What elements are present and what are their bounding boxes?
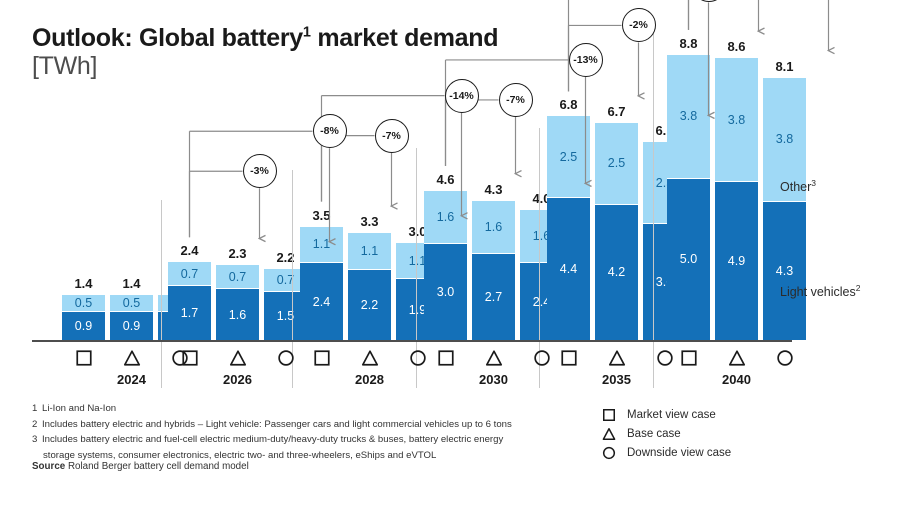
footnote-3-number: 3: [32, 432, 42, 448]
delta-callout-badge: -3%: [243, 154, 277, 188]
callout-connectors: [0, 0, 900, 400]
footnote-1-text: Li-Ion and Na-Ion: [42, 403, 116, 414]
footnote-3-text: Includes battery electric and fuel-cell …: [42, 434, 503, 445]
circle-icon: [600, 445, 618, 461]
legend: Market view caseBase caseDownside view c…: [600, 406, 731, 463]
legend-item[interactable]: Downside view case: [600, 444, 731, 462]
legend-item-label: Base case: [627, 428, 681, 440]
footnotes-block: 1Li-Ion and Na-Ion 2Includes battery ele…: [32, 401, 592, 463]
delta-callout-badge: -13%: [569, 43, 603, 77]
triangle-icon: [600, 426, 618, 442]
footnote-1-number: 1: [32, 401, 42, 417]
source-line: Source Roland Berger battery cell demand…: [32, 461, 249, 472]
source-label: Source: [32, 461, 65, 472]
footnote-2-text: Includes battery electric and hybrids – …: [42, 419, 512, 430]
square-icon: [600, 407, 618, 423]
delta-callout-badge: -7%: [499, 83, 533, 117]
chart-page: Outlook: Global battery1 market demand […: [0, 0, 900, 507]
source-text: Roland Berger battery cell demand model: [68, 461, 249, 472]
legend-item[interactable]: Market view case: [600, 406, 731, 424]
delta-callout-badge: -7%: [375, 119, 409, 153]
footnote-3: 3Includes battery electric and fuel-cell…: [32, 432, 592, 463]
legend-item-label: Market view case: [627, 409, 716, 421]
chart-plot-area: 0.50.91.40.50.91.40.50.91.40.71.72.40.71…: [0, 0, 900, 400]
delta-callout-badge: -8%: [313, 114, 347, 148]
footnote-1: 1Li-Ion and Na-Ion: [32, 401, 592, 417]
delta-callout-badge: -2%: [622, 8, 656, 42]
footnote-2-number: 2: [32, 417, 42, 433]
delta-callout-badge: -14%: [445, 79, 479, 113]
legend-item-label: Downside view case: [627, 447, 731, 459]
legend-item[interactable]: Base case: [600, 425, 731, 443]
footnote-2: 2Includes battery electric and hybrids –…: [32, 417, 592, 433]
